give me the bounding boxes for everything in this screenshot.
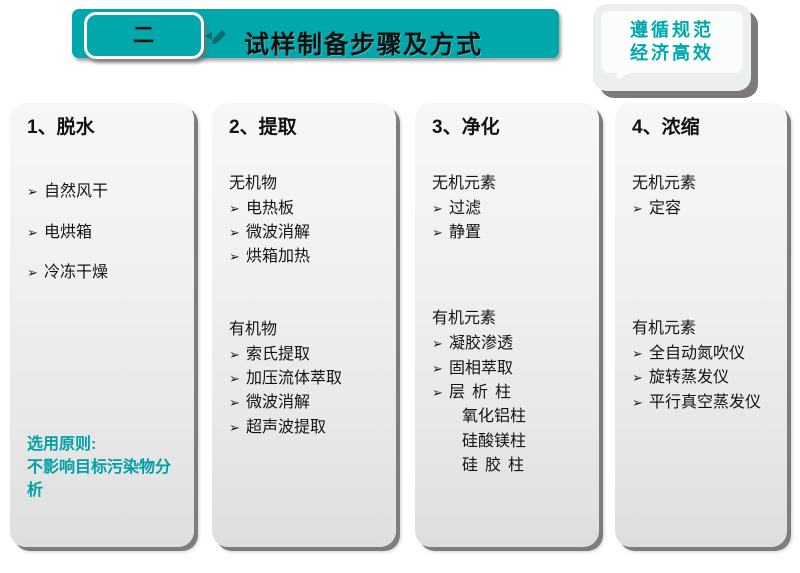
note-line-3: 析	[27, 479, 187, 502]
arrow-bullet-icon: ➢	[229, 248, 246, 268]
bullet-list: ➢ 索氏提取 ➢ 加压流体萃取 ➢ 微波消解 ➢ 超声波提取	[229, 343, 396, 440]
card-group: 无机元素 ➢ 定容	[615, 172, 787, 221]
page-title: 试样制备步骤及方式	[244, 20, 544, 65]
step-card-2[interactable]: 2、提取 无机物 ➢ 电热板 ➢ 微波消解 ➢ 烘箱加热 有机物	[212, 103, 396, 547]
card-title: 1、脱水	[10, 117, 194, 140]
group-heading: 有机物	[229, 318, 396, 342]
list-item-label: 微波消解	[246, 391, 310, 415]
bullet-list: ➢ 过滤 ➢ 静置	[432, 197, 599, 246]
card-group: 有机物 ➢ 索氏提取 ➢ 加压流体萃取 ➢ 微波消解 ➢ 超声波提取	[212, 318, 396, 440]
note-line-2: 不影响目标污染物分	[27, 456, 187, 479]
list-item-label: 层析柱	[449, 381, 518, 405]
list-item-label: 超声波提取	[246, 416, 326, 440]
card-group: 有机元素 ➢ 凝胶渗透 ➢ 固相萃取 ➢ 层析柱 氧化铝柱 硅酸镁柱 硅胶柱	[415, 307, 599, 478]
list-item-label: 索氏提取	[246, 343, 310, 367]
list-item-label: 自然风干	[44, 172, 108, 213]
card-group: ➢ 自然风干 ➢ 电烘箱 ➢ 冷冻干燥	[10, 172, 194, 294]
section-number-label: 二	[133, 25, 155, 46]
group-heading: 无机物	[229, 172, 396, 196]
slogan-bubble: 遵循规范 经济高效	[593, 4, 758, 98]
pencil-icon	[205, 29, 229, 45]
arrow-bullet-icon: ➢	[27, 176, 44, 209]
arrow-bullet-icon: ➢	[432, 360, 449, 380]
card-group: 有机元素 ➢ 全自动氮吹仪 ➢ 旋转蒸发仪 ➢ 平行真空蒸发仪	[615, 317, 787, 415]
list-item-label: 全自动氮吹仪	[649, 342, 745, 366]
list-item-label: 电热板	[246, 197, 294, 221]
list-item-label: 凝胶渗透	[449, 332, 513, 356]
note-line-1: 选用原则:	[27, 433, 187, 456]
arrow-bullet-icon: ➢	[229, 200, 246, 220]
bubble-inner-panel: 遵循规范 经济高效	[601, 11, 743, 73]
list-item[interactable]: ➢ 固相萃取	[432, 357, 599, 381]
list-item[interactable]: ➢ 微波消解	[229, 221, 396, 245]
section-number-chip: 二	[84, 12, 204, 59]
bullet-list: ➢ 自然风干 ➢ 电烘箱 ➢ 冷冻干燥	[27, 172, 194, 294]
list-item-label: 固相萃取	[449, 357, 513, 381]
spacer	[415, 146, 599, 172]
list-item-label: 平行真空蒸发仪	[649, 391, 761, 415]
list-item[interactable]: ➢ 静置	[432, 221, 599, 245]
list-item[interactable]: ➢ 索氏提取	[229, 343, 396, 367]
arrow-bullet-icon: ➢	[632, 394, 649, 414]
list-item[interactable]: ➢ 定容	[632, 197, 787, 221]
list-item[interactable]: ➢ 烘箱加热	[229, 245, 396, 269]
arrow-bullet-icon: ➢	[432, 335, 449, 355]
list-item-label: 电烘箱	[44, 213, 92, 254]
slogan-line-1: 遵循规范	[630, 19, 714, 42]
list-item-label: 静置	[449, 221, 481, 245]
list-item-label: 旋转蒸发仪	[649, 366, 729, 390]
bullet-list: ➢ 凝胶渗透 ➢ 固相萃取 ➢ 层析柱	[432, 332, 599, 405]
sub-item: 硅酸镁柱	[432, 430, 599, 454]
list-item[interactable]: ➢ 电热板	[229, 197, 396, 221]
list-item[interactable]: ➢ 平行真空蒸发仪	[632, 391, 787, 415]
group-heading: 有机元素	[632, 317, 787, 341]
list-item[interactable]: ➢ 加压流体萃取	[229, 367, 396, 391]
slide-canvas: 二 试样制备步骤及方式 遵循规范 经济高效 1、脱水 ➢	[0, 0, 800, 573]
group-heading: 无机元素	[432, 172, 599, 196]
arrow-bullet-icon: ➢	[632, 345, 649, 365]
arrow-bullet-icon: ➢	[229, 370, 246, 390]
spacer	[212, 146, 396, 172]
bullet-list: ➢ 定容	[632, 197, 787, 221]
sub-item: 氧化铝柱	[432, 405, 599, 429]
list-item-label: 过滤	[449, 197, 481, 221]
arrow-bullet-icon: ➢	[432, 224, 449, 244]
card-group: 无机元素 ➢ 过滤 ➢ 静置	[415, 172, 599, 246]
arrow-bullet-icon: ➢	[632, 200, 649, 220]
arrow-bullet-icon: ➢	[27, 257, 44, 290]
spacer	[615, 146, 787, 172]
spacer	[615, 221, 787, 269]
arrow-bullet-icon: ➢	[432, 200, 449, 220]
list-item[interactable]: ➢ 微波消解	[229, 391, 396, 415]
card-title: 4、浓缩	[615, 117, 787, 140]
spacer	[615, 269, 787, 317]
arrow-bullet-icon: ➢	[632, 369, 649, 389]
step-card-3[interactable]: 3、净化 无机元素 ➢ 过滤 ➢ 静置 有机元素 ➢ 凝胶	[415, 103, 599, 547]
card-group: 无机物 ➢ 电热板 ➢ 微波消解 ➢ 烘箱加热	[212, 172, 396, 270]
card-title: 2、提取	[212, 117, 396, 140]
list-item-label: 加压流体萃取	[246, 367, 342, 391]
arrow-bullet-icon: ➢	[229, 394, 246, 414]
spacer	[212, 270, 396, 318]
list-item[interactable]: ➢ 全自动氮吹仪	[632, 342, 787, 366]
spacer	[10, 146, 194, 172]
arrow-bullet-icon: ➢	[229, 419, 246, 439]
spacer	[415, 293, 599, 307]
list-item[interactable]: ➢ 自然风干	[27, 172, 194, 213]
list-item[interactable]: ➢ 过滤	[432, 197, 599, 221]
arrow-bullet-icon: ➢	[27, 217, 44, 250]
list-item[interactable]: ➢ 层析柱	[432, 381, 599, 405]
arrow-bullet-icon: ➢	[229, 224, 246, 244]
list-item[interactable]: ➢ 旋转蒸发仪	[632, 366, 787, 390]
list-item[interactable]: ➢ 冷冻干燥	[27, 253, 194, 294]
bullet-list: ➢ 电热板 ➢ 微波消解 ➢ 烘箱加热	[229, 197, 396, 270]
arrow-bullet-icon: ➢	[432, 384, 449, 404]
arrow-bullet-icon: ➢	[229, 346, 246, 366]
list-item-label: 微波消解	[246, 221, 310, 245]
step-card-1[interactable]: 1、脱水 ➢ 自然风干 ➢ 电烘箱 ➢ 冷冻干燥 选用原则: 不影响目标污染物分	[10, 103, 194, 547]
header-banner: 二 试样制备步骤及方式	[72, 9, 559, 58]
group-heading: 无机元素	[632, 172, 787, 196]
list-item[interactable]: ➢ 超声波提取	[229, 416, 396, 440]
list-item-label: 定容	[649, 197, 681, 221]
sub-item: 硅胶柱	[432, 454, 599, 478]
spacer	[415, 245, 599, 293]
list-item[interactable]: ➢ 凝胶渗透	[432, 332, 599, 356]
step-card-4[interactable]: 4、浓缩 无机元素 ➢ 定容 有机元素 ➢ 全自动氮吹仪 ➢	[615, 103, 787, 547]
bullet-list: ➢ 全自动氮吹仪 ➢ 旋转蒸发仪 ➢ 平行真空蒸发仪	[632, 342, 787, 415]
list-item-label: 冷冻干燥	[44, 253, 108, 294]
card-title: 3、净化	[415, 117, 599, 140]
group-heading: 有机元素	[432, 307, 599, 331]
list-item[interactable]: ➢ 电烘箱	[27, 213, 194, 254]
slogan-line-2: 经济高效	[630, 42, 714, 65]
selection-principle-note: 选用原则: 不影响目标污染物分 析	[27, 433, 187, 503]
list-item-label: 烘箱加热	[246, 245, 310, 269]
